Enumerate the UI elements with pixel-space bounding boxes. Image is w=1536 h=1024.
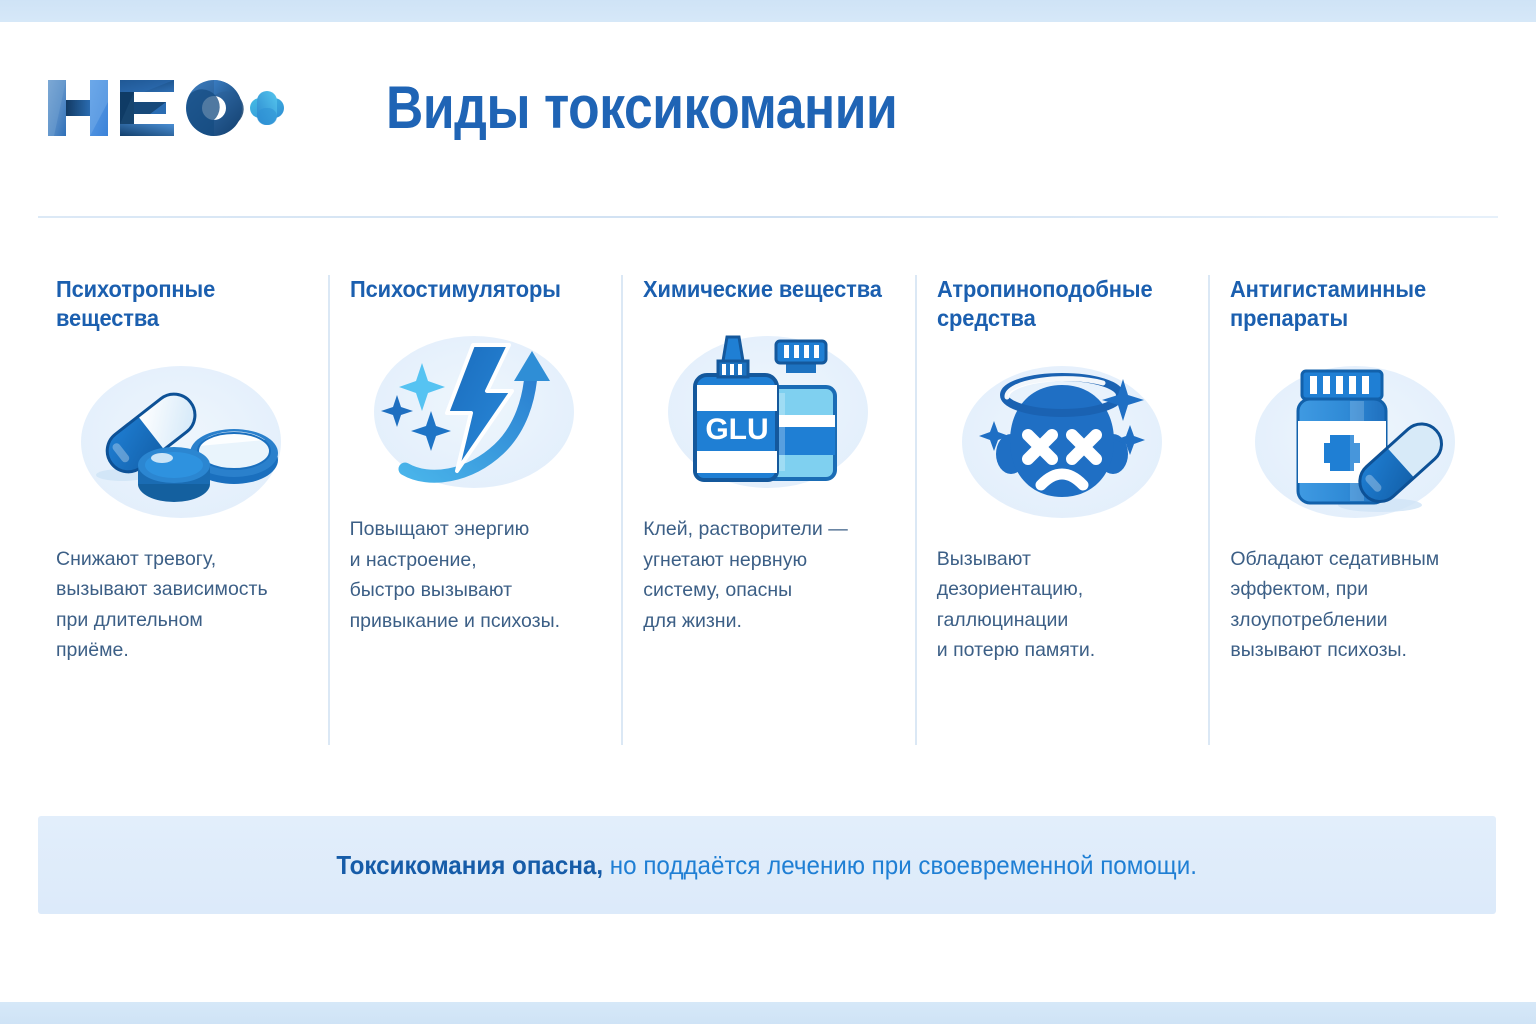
glue-solvent-bottles-icon: GLU	[637, 322, 899, 502]
column-description: Повыщают энергию и настроение, быстро вы…	[350, 514, 606, 636]
header: Виды токсикомании	[0, 22, 1536, 194]
footer-banner-text: Токсикомания опасна, но поддаётся лечени…	[337, 852, 1198, 878]
footer-strong: Токсикомания опасна,	[337, 850, 604, 880]
dizzy-face-icon	[931, 352, 1193, 532]
column-heading: Психотропные вещества	[56, 275, 299, 334]
category-columns: Психотропные вещества	[36, 275, 1502, 745]
category-column-chemicals: Химические вещества	[621, 275, 915, 745]
category-column-atropine: Атропиноподобные средства	[915, 275, 1209, 745]
footer-banner: Токсикомания опасна, но поддаётся лечени…	[38, 816, 1496, 914]
page-title: Виды токсикомании	[386, 76, 897, 139]
column-heading: Антигистаминные препараты	[1230, 275, 1473, 334]
lightning-bolt-arrow-icon	[344, 322, 606, 502]
column-description: Вызывают дезориентацию, галлюцинации и п…	[937, 544, 1193, 666]
column-heading: Психостимуляторы	[350, 275, 593, 304]
glue-label: GLU	[705, 413, 768, 446]
category-column-psychotropic: Психотропные вещества	[36, 275, 328, 745]
bottom-accent-bar	[0, 1002, 1536, 1024]
column-heading: Атропиноподобные средства	[937, 275, 1180, 334]
category-column-antihistamines: Антигистаминные препараты	[1208, 275, 1502, 745]
infographic-page: Виды токсикомании Психотропные вещества	[0, 0, 1536, 1024]
column-description: Снижают тревогу, вызывают зависимость пр…	[56, 544, 312, 666]
footer-light: но поддаётся лечению при своевременной п…	[603, 850, 1197, 880]
category-column-stimulants: Психостимуляторы	[328, 275, 622, 745]
column-description: Обладают седативным эффектом, при злоупо…	[1230, 544, 1486, 666]
top-accent-bar	[0, 0, 1536, 22]
medicine-bottle-capsule-icon	[1224, 352, 1486, 532]
column-description: Клей, растворители — угнетают нервную си…	[643, 514, 899, 636]
header-divider	[38, 216, 1498, 218]
pills-capsule-icon	[50, 352, 312, 532]
column-heading: Химические вещества	[643, 275, 886, 304]
neo-plus-logo	[44, 72, 284, 144]
